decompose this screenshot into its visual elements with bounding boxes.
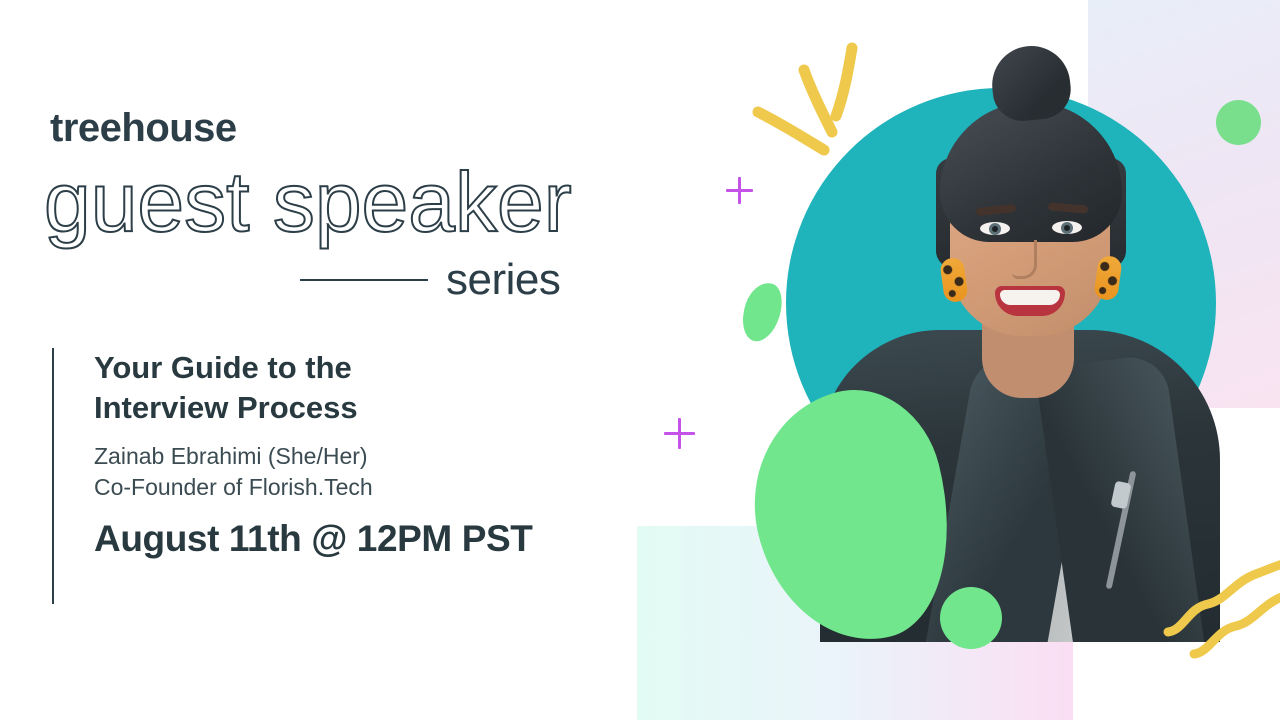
brand-wordmark: treehouse	[50, 108, 237, 148]
promo-slide: treehouse guest speaker series Your Guid…	[0, 0, 1280, 720]
teeth	[1000, 290, 1060, 305]
iris-right	[1061, 222, 1073, 234]
headline-outline: guest speaker	[44, 160, 572, 244]
eye-right	[1052, 221, 1082, 234]
series-divider-rule	[300, 279, 428, 281]
series-row: series	[300, 255, 630, 305]
squiggle-strokes-icon	[1160, 560, 1280, 670]
eye-left	[980, 222, 1010, 235]
speaker-name: Zainab Ebrahimi (She/Her)	[94, 441, 612, 472]
speaker-role: Co-Founder of Florish.Tech	[94, 472, 612, 503]
series-label: series	[446, 258, 560, 302]
green-blob-small	[736, 278, 789, 346]
event-title: Your Guide to the Interview Process	[94, 348, 612, 427]
green-circle-lower	[940, 587, 1002, 649]
hair	[940, 102, 1122, 242]
event-info-block: Your Guide to the Interview Process Zain…	[52, 348, 612, 604]
iris-left	[989, 223, 1001, 235]
event-datetime: August 11th @ 12PM PST	[94, 519, 612, 560]
sparkle-strokes-icon	[748, 40, 888, 180]
nose	[1012, 240, 1037, 279]
plus-mark-icon-lower	[664, 418, 695, 449]
plus-mark-icon-upper	[726, 177, 753, 204]
smiling-mouth	[995, 286, 1065, 316]
green-circle-upper	[1216, 100, 1261, 145]
